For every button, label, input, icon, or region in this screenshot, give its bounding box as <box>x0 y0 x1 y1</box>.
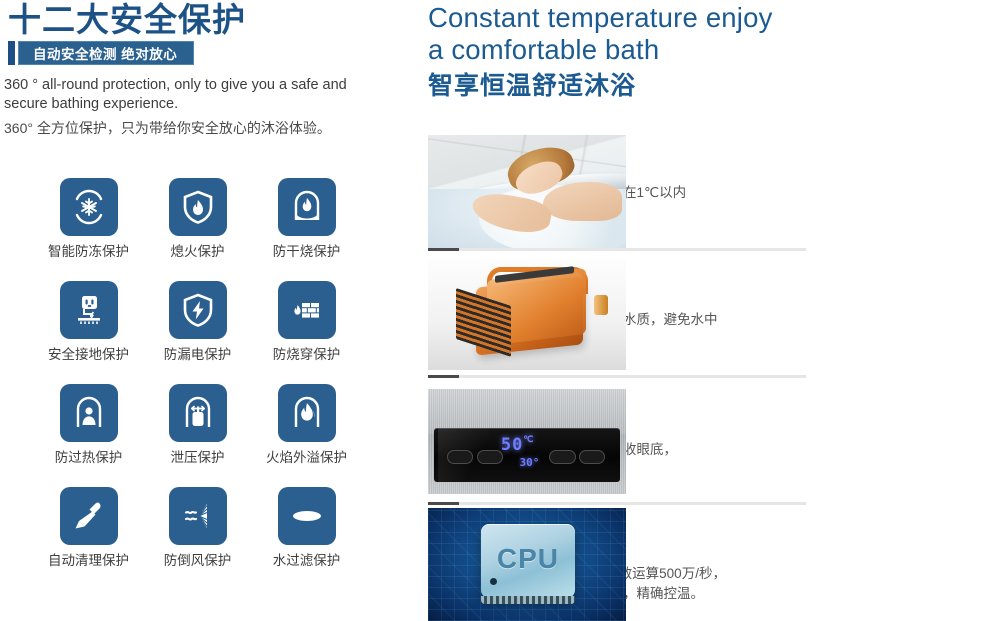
protection-label: 泄压保护 <box>171 450 225 466</box>
protection-item-dryburn[interactable]: 防干烧保护 <box>252 178 361 260</box>
backdraft-fan-icon <box>169 487 227 545</box>
panel-secondary-reading: 30° <box>520 456 540 469</box>
protection-item-pressure-relief[interactable]: 泄压保护 <box>143 384 252 466</box>
water-filter-icon <box>278 487 336 545</box>
feature-block-touch-keys: 轻触式按键 操作简单更明了 VFD彩屏动态显示，工作状态尽收眼底， 操作简单。 … <box>428 392 1000 507</box>
subtitle-badge: 自动安全检测 绝对放心 <box>8 41 194 65</box>
cpu-chip: CPU <box>481 524 574 599</box>
grounded-socket-icon <box>60 281 118 339</box>
shield-bolt-icon <box>169 281 227 339</box>
protection-label: 熄火保护 <box>171 244 225 260</box>
protection-label: 防烧穿保护 <box>273 347 341 363</box>
protection-label: 自动清理保护 <box>48 553 129 569</box>
protection-label: 水过滤保护 <box>273 553 341 569</box>
hero-heading: Constant temperature enjoy a comfortable… <box>428 0 988 102</box>
pressure-relief-icon <box>169 384 227 442</box>
hero-chinese: 智享恒温舒适沐浴 <box>428 70 988 102</box>
flame-wall-icon <box>278 281 336 339</box>
protection-item-flame-overflow[interactable]: 火焰外溢保护 <box>252 384 361 466</box>
right-column: Constant temperature enjoy a comfortable… <box>428 0 1000 621</box>
overheat-person-icon <box>60 384 118 442</box>
protection-item-auto-clean[interactable]: 自动清理保护 <box>34 487 143 569</box>
protection-label: 防漏电保护 <box>164 347 232 363</box>
feature-separator <box>428 248 806 251</box>
protection-item-water-filter[interactable]: 水过滤保护 <box>252 487 361 569</box>
feature-block-thermostat: 智能1℃ 恒温轻享慢生活 微电脑全程监控，保证出水温差在1℃以内 沐浴更加舒心！ <box>428 135 1000 250</box>
intro-block: 360 ° all-round protection, only to give… <box>4 76 404 139</box>
auto-clean-brush-icon <box>60 487 118 545</box>
protection-label: 安全接地保护 <box>48 347 129 363</box>
cpu-chip-label: CPU <box>481 543 574 575</box>
protection-item-grounding[interactable]: 安全接地保护 <box>34 281 143 363</box>
badge-accent-tick <box>8 41 15 65</box>
protection-label: 防倒风保护 <box>164 553 232 569</box>
cpu-circuit-board-photo: CPU <box>428 508 626 621</box>
protection-grid: 智能防冻保护 熄火保护 <box>0 178 420 590</box>
protection-item-burnthrough[interactable]: 防烧穿保护 <box>252 281 361 363</box>
panel-temperature-reading: 50℃ <box>501 435 535 455</box>
intro-chinese: 360° 全方位保护，只为带给你安全放心的沐浴体验。 <box>4 118 404 139</box>
protection-label: 智能防冻保护 <box>48 244 129 260</box>
protection-row: 安全接地保护 防漏电保护 <box>0 281 420 363</box>
protection-label: 防过热保护 <box>55 450 123 466</box>
page-title: 十二大安全保护 <box>8 0 246 40</box>
intro-english: 360 ° all-round protection, only to give… <box>4 76 404 114</box>
protection-row: 自动清理保护 <box>0 487 420 569</box>
feature-separator <box>428 502 806 505</box>
protection-label: 防干烧保护 <box>273 244 341 260</box>
feature-block-copper-tank: 无氧铜水箱 节能先锋 性能出众 热效率更高，加热更快同时优化水质，避免水中 出现… <box>428 262 1000 382</box>
badge-label: 自动安全检测 绝对放心 <box>18 41 194 65</box>
left-column: 十二大安全保护 自动安全检测 绝对放心 360 ° all-round prot… <box>0 0 420 621</box>
feature-separator <box>428 375 806 378</box>
protection-item-backdraft[interactable]: 防倒风保护 <box>143 487 252 569</box>
protection-item-flameout[interactable]: 熄火保护 <box>143 178 252 260</box>
protection-item-overheat[interactable]: 防过热保护 <box>34 384 143 466</box>
poster-root: 十二大安全保护 自动安全检测 绝对放心 360 ° all-round prot… <box>0 0 1000 621</box>
protection-item-antifreeze[interactable]: 智能防冻保护 <box>34 178 143 260</box>
flame-overflow-icon <box>278 384 336 442</box>
flame-dry-burn-icon <box>278 178 336 236</box>
feature-block-smart-chip: 智能芯片精控技术 热水器也有中央处理器 1℃恒温不再难，智能芯片，灵敏运算500… <box>428 516 1000 621</box>
protection-label: 火焰外溢保护 <box>266 450 347 466</box>
shield-flame-icon <box>169 178 227 236</box>
copper-heat-exchanger-photo <box>428 260 626 370</box>
protection-row: 防过热保护 泄压保护 <box>0 384 420 466</box>
woman-in-bathtub-photo <box>428 135 626 248</box>
snowflake-antifreeze-icon <box>60 178 118 236</box>
protection-item-leakage[interactable]: 防漏电保护 <box>143 281 252 363</box>
protection-row: 智能防冻保护 熄火保护 <box>0 178 420 260</box>
vfd-control-panel-photo: 50℃ 30° <box>428 389 626 494</box>
hero-english: Constant temperature enjoy a comfortable… <box>428 0 988 66</box>
